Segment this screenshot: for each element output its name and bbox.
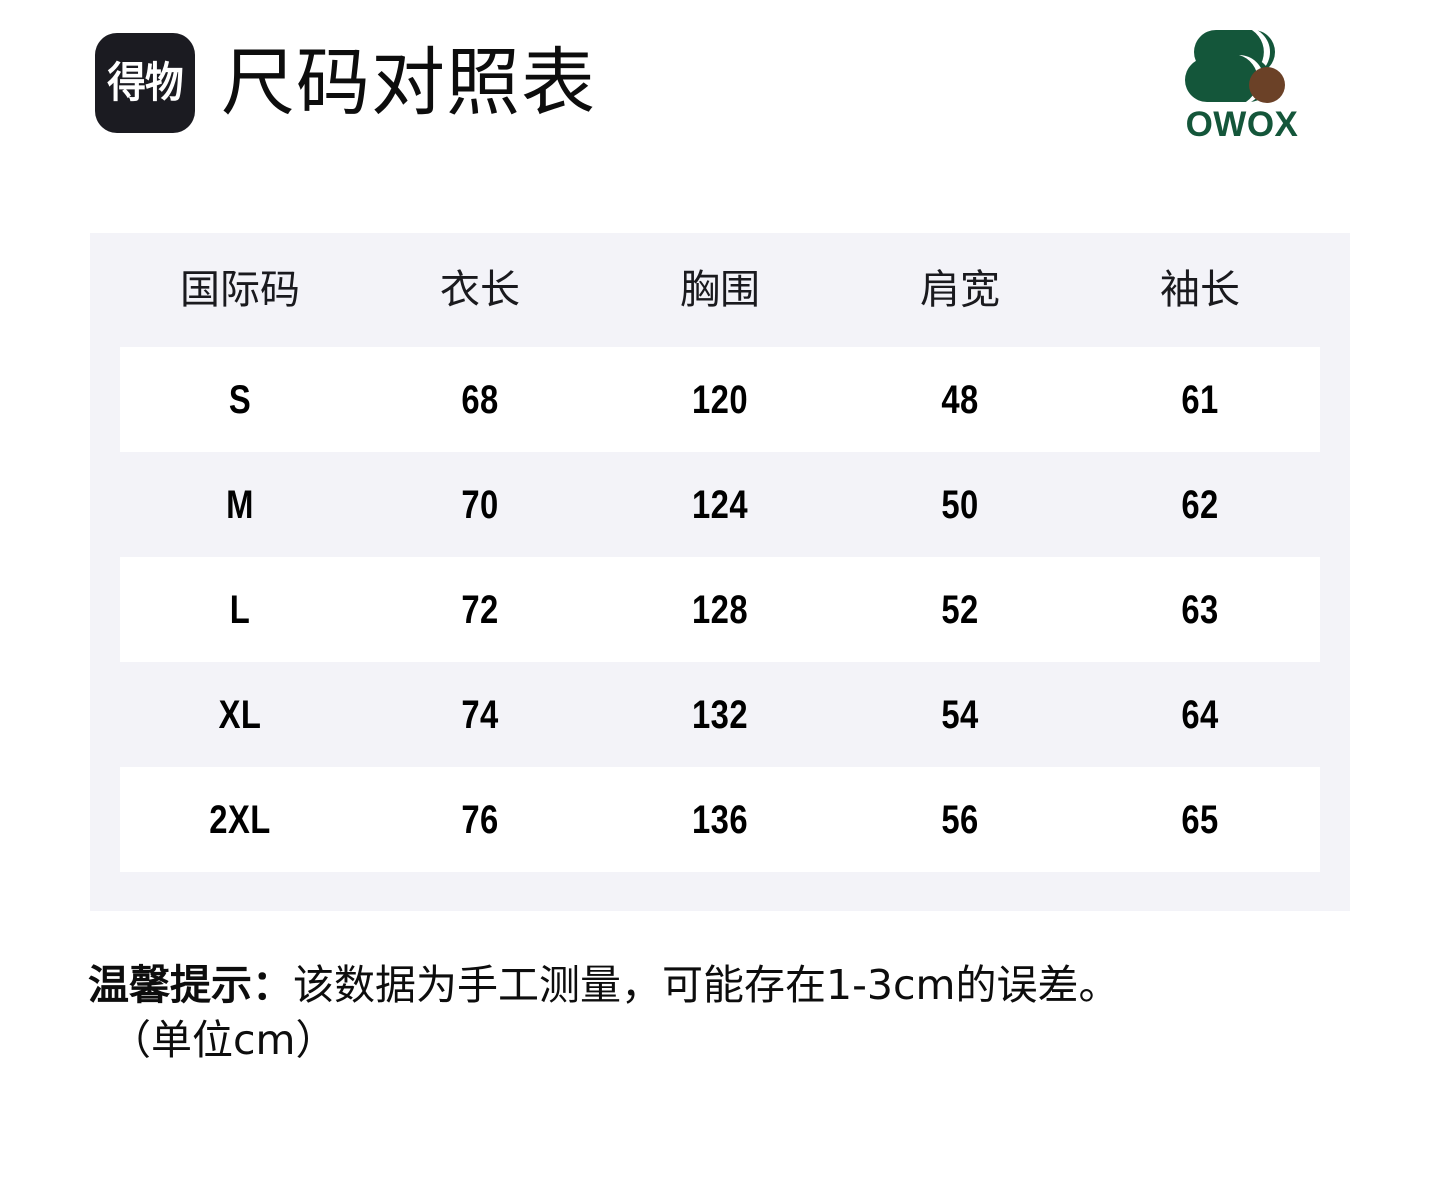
- owox-logo-icon: [1183, 26, 1301, 106]
- cell-size: XL: [142, 695, 339, 735]
- cell-sleeve: 62: [1102, 485, 1299, 525]
- cell-length: 72: [382, 590, 579, 630]
- cell-size: S: [142, 380, 339, 420]
- cell-chest: 128: [622, 590, 819, 630]
- owox-wordmark: OWOX: [1186, 107, 1299, 142]
- cell-length: 68: [382, 380, 579, 420]
- brand-left-group: 得物 尺码对照表: [95, 33, 596, 133]
- cell-shoulder: 56: [862, 800, 1059, 840]
- cell-chest: 120: [622, 380, 819, 420]
- cell-chest: 136: [622, 800, 819, 840]
- table-row: XL 74 132 54 64: [120, 662, 1320, 767]
- cell-shoulder: 48: [862, 380, 1059, 420]
- cell-length: 76: [382, 800, 579, 840]
- cell-shoulder: 50: [862, 485, 1059, 525]
- column-header-length: 衣长: [360, 270, 600, 310]
- cell-chest: 132: [622, 695, 819, 735]
- column-header-shoulder: 肩宽: [840, 270, 1080, 310]
- note-unit-line: （单位cm）: [88, 1013, 1368, 1068]
- dewu-logo-text: 得物: [107, 62, 182, 104]
- cell-sleeve: 61: [1102, 380, 1299, 420]
- page-title: 尺码对照表: [221, 46, 596, 120]
- column-header-chest: 胸围: [600, 270, 840, 310]
- cell-size: M: [142, 485, 339, 525]
- cell-shoulder: 52: [862, 590, 1059, 630]
- cell-shoulder: 54: [862, 695, 1059, 735]
- table-row: M 70 124 50 62: [120, 452, 1320, 557]
- column-header-size: 国际码: [120, 270, 360, 310]
- owox-brand-group: OWOX: [1172, 26, 1312, 142]
- page-header: 得物 尺码对照表 OWOX: [0, 0, 1440, 190]
- size-table: 国际码 衣长 胸围 肩宽 袖长 S 68 120 48 61 M 70 124 …: [90, 233, 1350, 911]
- table-row: S 68 120 48 61: [120, 347, 1320, 452]
- cell-sleeve: 63: [1102, 590, 1299, 630]
- table-row: 2XL 76 136 56 65: [120, 767, 1320, 872]
- cell-size: L: [142, 590, 339, 630]
- dewu-logo: 得物: [95, 33, 195, 133]
- table-row: L 72 128 52 63: [120, 557, 1320, 662]
- column-header-sleeve: 袖长: [1080, 270, 1320, 310]
- cell-length: 70: [382, 485, 579, 525]
- cell-sleeve: 64: [1102, 695, 1299, 735]
- cell-size: 2XL: [142, 800, 339, 840]
- note-label: 温馨提示：: [88, 961, 293, 1009]
- table-header-row: 国际码 衣长 胸围 肩宽 袖长: [90, 233, 1350, 347]
- size-chart-page: 得物 尺码对照表 OWOX 国际码 衣长 胸围 肩宽 袖长 S: [0, 0, 1440, 1197]
- note-body: 该数据为手工测量，可能存在1-3cm的误差。: [293, 961, 1119, 1009]
- cell-sleeve: 65: [1102, 800, 1299, 840]
- cell-chest: 124: [622, 485, 819, 525]
- measurement-note: 温馨提示：该数据为手工测量，可能存在1-3cm的误差。 （单位cm）: [88, 958, 1368, 1069]
- cell-length: 74: [382, 695, 579, 735]
- table-body: S 68 120 48 61 M 70 124 50 62 L 72 128 5…: [90, 347, 1350, 872]
